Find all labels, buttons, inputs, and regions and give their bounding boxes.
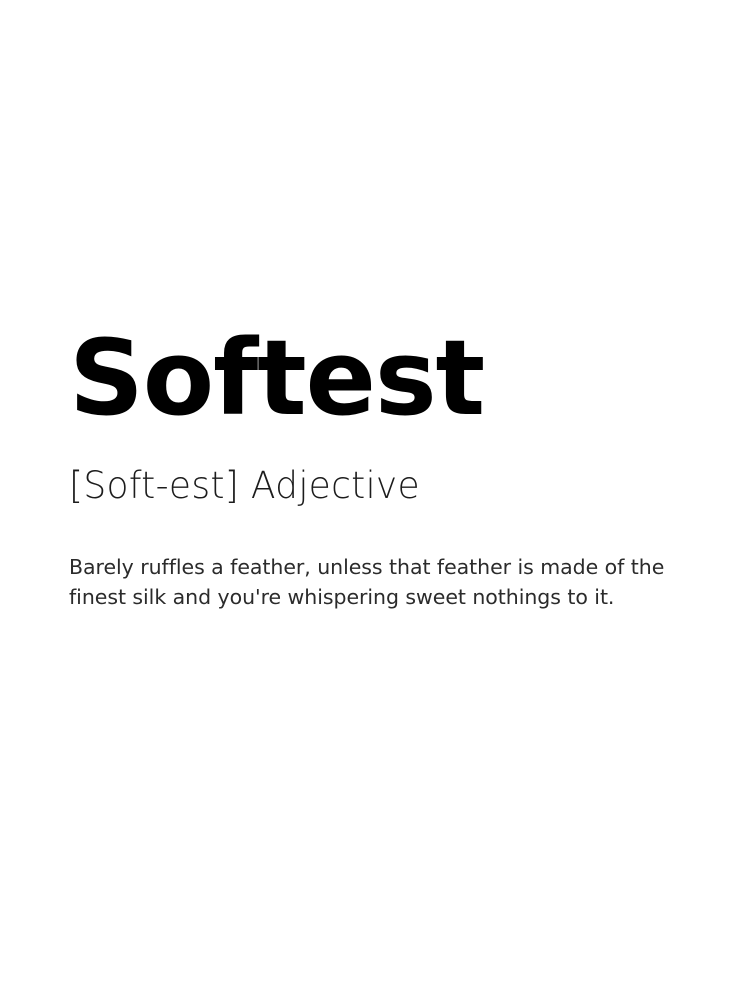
pronunciation-line: [Soft-est] Adjective <box>69 468 689 505</box>
page-title: Softest <box>69 326 689 430</box>
pronunciation-spacer <box>239 465 251 508</box>
definition-body-line-1: Barely ruffles a feather, unless that fe… <box>69 552 669 582</box>
definition-body: Barely ruffles a feather, unless that fe… <box>69 552 669 612</box>
pronunciation-bracketed: [Soft-est] <box>69 465 239 508</box>
definition-block: Softest [Soft-est] Adjective Barely ruff… <box>69 326 689 612</box>
definition-poster: Softest [Soft-est] Adjective Barely ruff… <box>0 0 748 1000</box>
part-of-speech-label: Adjective <box>251 465 420 508</box>
definition-body-line-2: finest silk and you're whispering sweet … <box>69 582 669 612</box>
